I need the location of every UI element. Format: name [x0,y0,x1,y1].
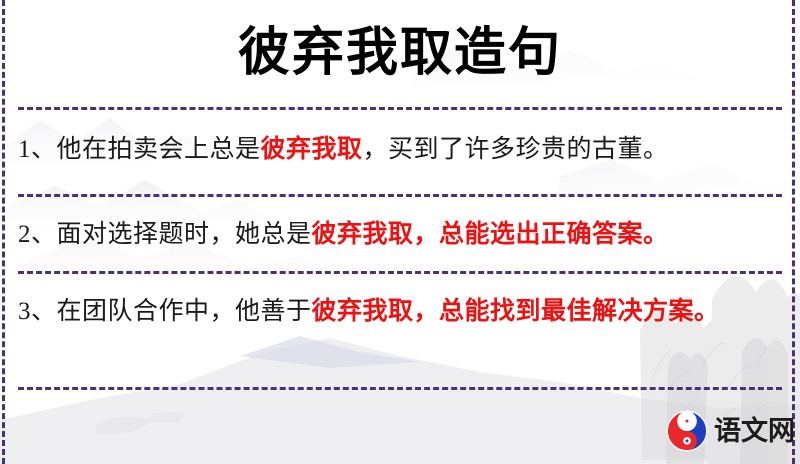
worksheet-page: 彼弃我取造句 1、他在拍卖会上总是彼弃我取，买到了许多珍贵的古董。 2、面对选择… [0,0,800,464]
frame-border-left [2,0,5,464]
sentence-number-3: 3、 [18,298,57,325]
divider-above-sentence-2 [18,194,782,197]
divider-above-sentence-1 [18,107,782,110]
divider-below-sentence-3 [18,387,782,390]
sentence-number-1: 1、 [18,136,57,163]
page-title: 彼弃我取造句 [0,24,800,84]
sentence-text-after-3: ，总能找到最佳解决方案。 [414,298,720,325]
sentence-item-2: 2、面对选择题时，她总是彼弃我取，总能选出正确答案。 [18,213,780,257]
frame-border-right [792,0,795,464]
site-logo[interactable]: 语文网 [666,410,795,452]
sentence-item-1: 1、他在拍卖会上总是彼弃我取，买到了许多珍贵的古董。 [18,128,780,172]
sentence-text-after-1: ，买到了许多珍贵的古董。 [363,136,669,163]
sentence-text-after-2: ，总能选出正确答案。 [414,221,669,248]
sentence-item-3: 3、在团队合作中，他善于彼弃我取，总能找到最佳解决方案。 [18,290,780,334]
sentence-number-2: 2、 [18,221,57,248]
idiom-highlight-2: 彼弃我取 [312,221,414,248]
idiom-highlight-1: 彼弃我取 [261,136,363,163]
divider-above-sentence-3 [18,271,782,274]
site-logo-text: 语文网 [714,418,795,445]
sentence-text-before-3: 在团队合作中，他善于 [57,298,312,325]
sentence-text-before-1: 他在拍卖会上总是 [57,136,261,163]
yinyang-icon [666,410,708,452]
idiom-highlight-3: 彼弃我取 [312,298,414,325]
sentence-text-before-2: 面对选择题时，她总是 [57,221,312,248]
